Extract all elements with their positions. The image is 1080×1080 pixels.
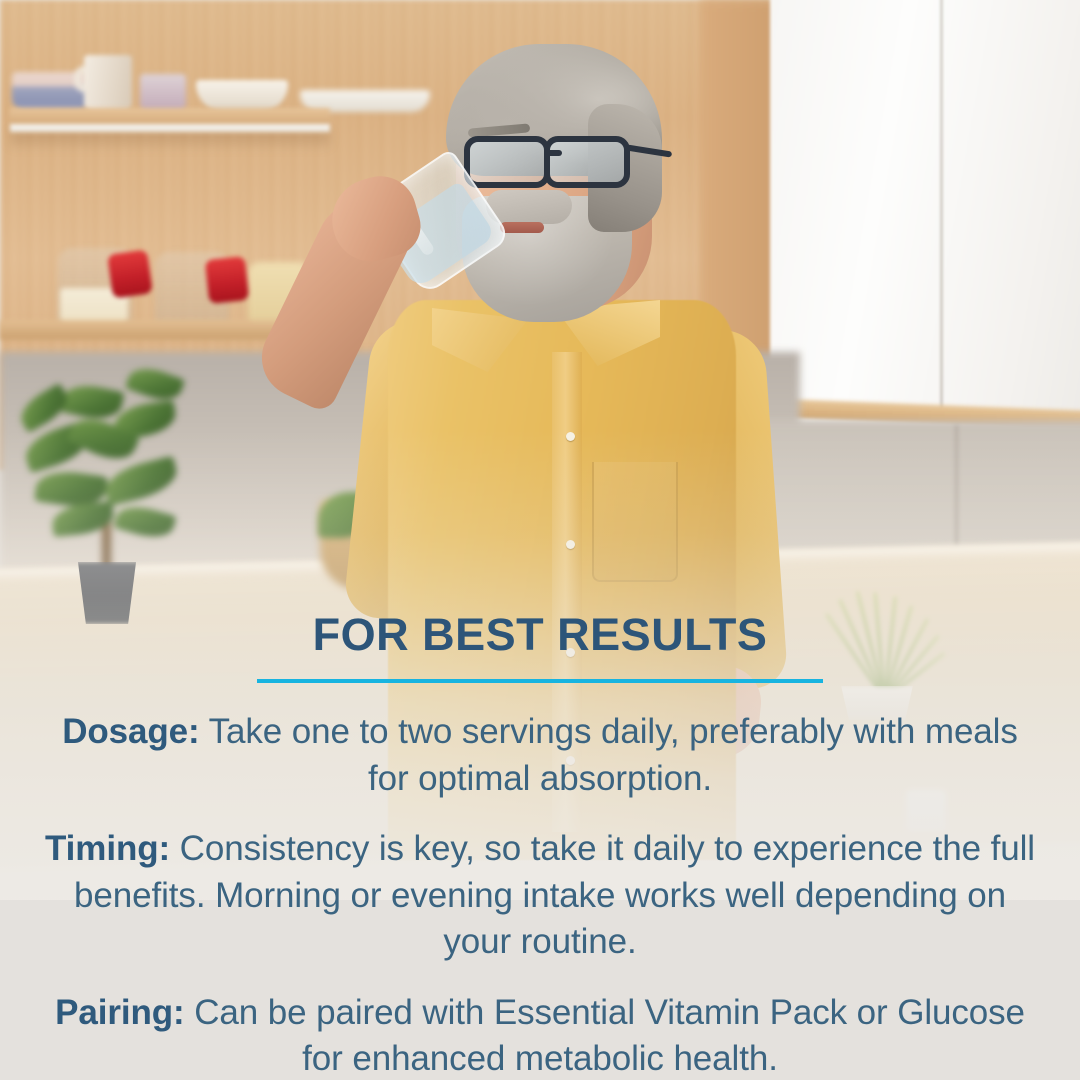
pairing-text: Can be paired with Essential Vitamin Pac… [185, 993, 1025, 1079]
pairing-paragraph: Pairing: Can be paired with Essential Vi… [40, 990, 1040, 1080]
text-panel: FOR BEST RESULTS Dosage: Take one to two… [0, 612, 1080, 1080]
timing-text: Consistency is key, so take it daily to … [74, 829, 1035, 961]
eyeglass-lens-left [464, 136, 550, 188]
eyeglass-lens-right [544, 136, 630, 188]
eyeglass-temple [626, 144, 672, 157]
dosage-paragraph: Dosage: Take one to two servings daily, … [40, 709, 1040, 802]
page-title: FOR BEST RESULTS [0, 612, 1080, 657]
dosage-text: Take one to two servings daily, preferab… [200, 712, 1018, 798]
timing-paragraph: Timing: Consistency is key, so take it d… [40, 826, 1040, 966]
title-divider [257, 679, 823, 683]
eyeglasses-icon [448, 136, 664, 192]
pairing-label: Pairing: [55, 993, 185, 1032]
poster-canvas: FOR BEST RESULTS Dosage: Take one to two… [0, 0, 1080, 1080]
eyeglass-bridge [546, 150, 562, 156]
dosage-label: Dosage: [62, 712, 199, 751]
timing-label: Timing: [45, 829, 170, 868]
lips [500, 222, 544, 233]
